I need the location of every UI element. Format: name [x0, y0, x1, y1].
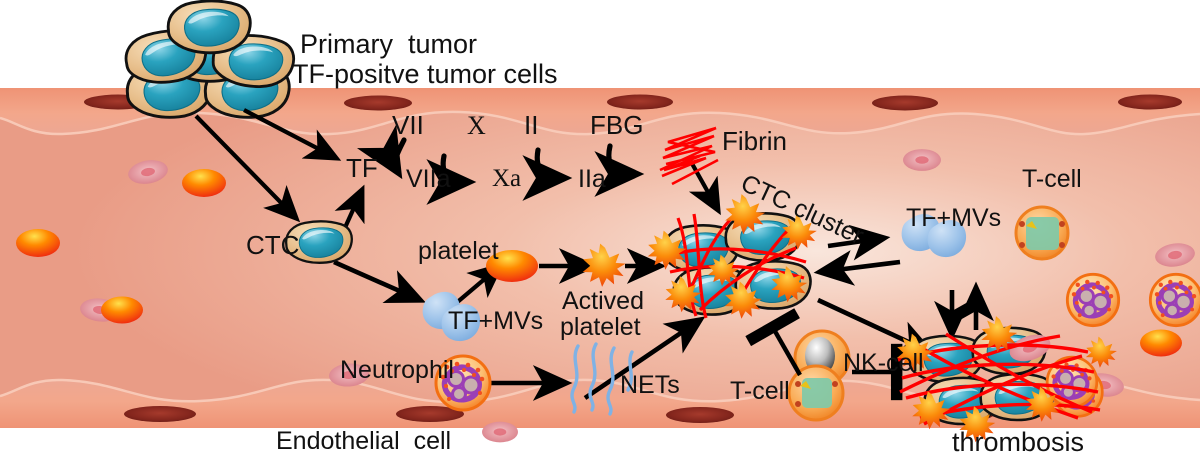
factor-ii-label: II [524, 112, 538, 139]
primary-tumor-label-line2: TF-positve tumor cells [292, 60, 558, 88]
thrombosis-label: thrombosis [952, 428, 1084, 456]
t-cell-right-label: T-cell [1022, 166, 1082, 192]
activated-platelet-label-line2: platelet [560, 314, 641, 340]
t-cell-bottom-label: T-cell [730, 378, 790, 404]
primary-tumor-label-line1: Primary tumor [300, 30, 477, 58]
factor-viia-label: VIIa [406, 166, 450, 192]
tf-mvs-right-label: TF+MVs [906, 205, 1001, 231]
fibrin-label: Fibrin [722, 128, 787, 155]
factor-iia-label: IIa [578, 166, 606, 192]
fibrin-strands [660, 128, 718, 184]
endothelial-cell-label: Endothelial cell [276, 428, 451, 454]
primary-tumor-cluster [124, 1, 296, 117]
activated-platelet-label-line1: Actived [562, 288, 644, 314]
tf-label: TF [346, 155, 378, 182]
diagram-overlay [0, 0, 1200, 460]
neutrophil-label: Neutrophil [340, 357, 454, 383]
t-cell-right [1016, 207, 1068, 259]
ctc-label: CTC [246, 232, 299, 259]
nk-cell-label: NK-cell [843, 350, 924, 376]
diagram-canvas: Primary tumor TF-positve tumor cells TF … [0, 0, 1200, 460]
factor-vii-label: VII [392, 112, 424, 139]
nets-label: NETs [620, 372, 680, 398]
fbg-label: FBG [590, 112, 643, 139]
thrombosis-mass [897, 316, 1117, 442]
factor-x-label: X [467, 112, 486, 139]
factor-xa-label: Xa [492, 166, 521, 192]
platelet-label: platelet [418, 238, 499, 264]
tf-mvs-left-label: TF+MVs [448, 308, 543, 334]
